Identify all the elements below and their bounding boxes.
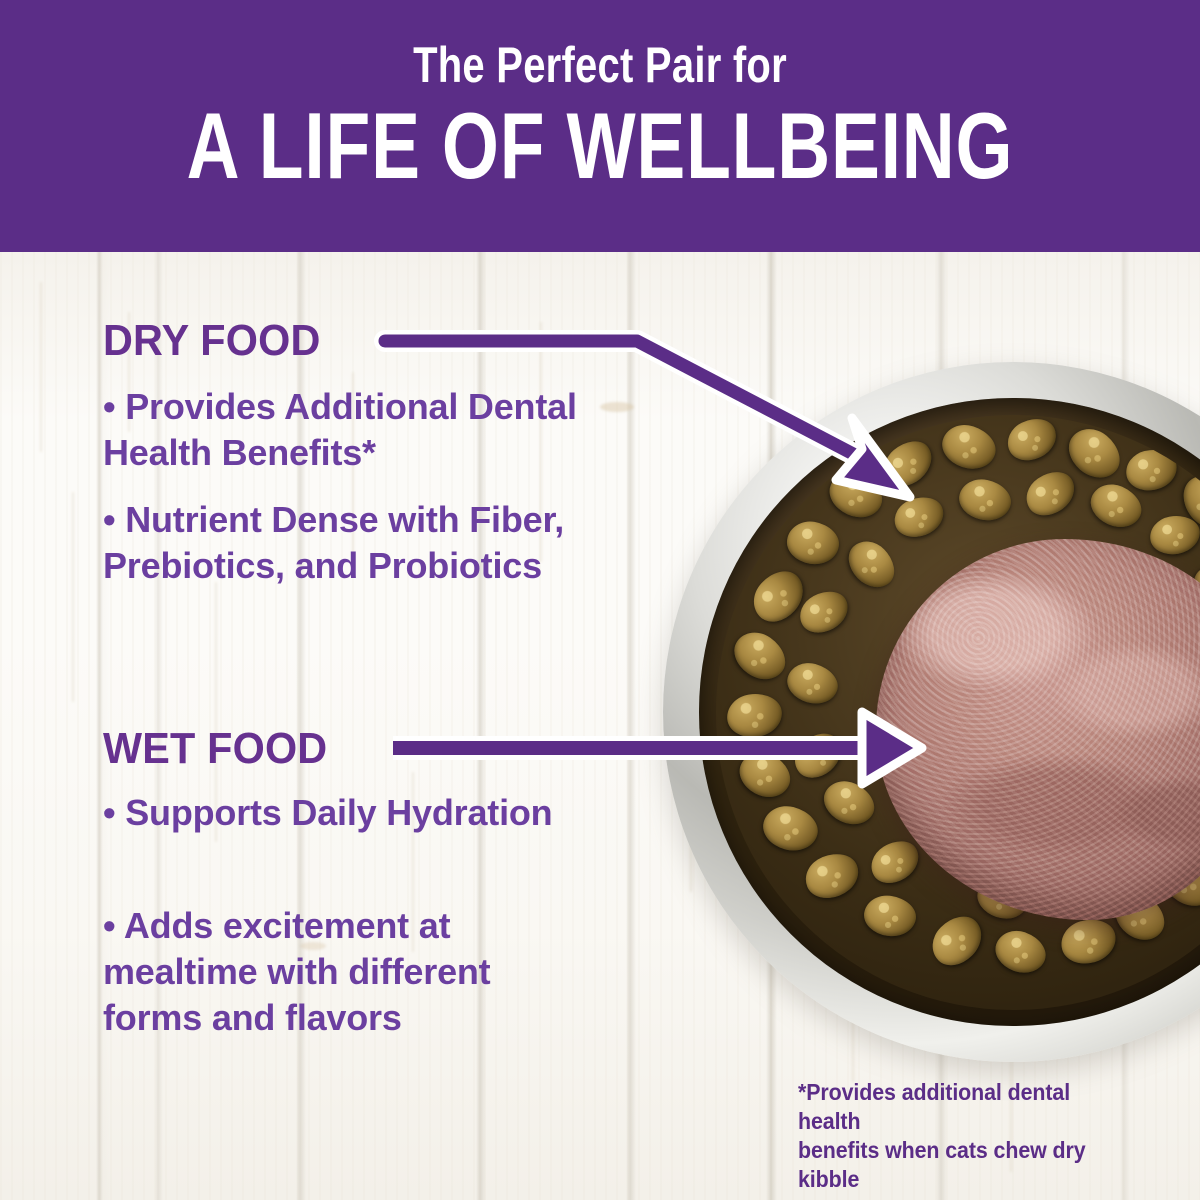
header-banner: The Perfect Pair for A LIFE OF WELLBEING — [0, 0, 1200, 252]
bullet-wet-1: • Supports Daily Hydration — [103, 790, 573, 836]
bullet-marker: • — [103, 499, 115, 540]
bullet-text: Provides Additional Dental Health Benefi… — [103, 386, 577, 473]
bullet-marker: • — [103, 386, 115, 427]
bullet-text: Adds excitement at mealtime with differe… — [103, 905, 490, 1038]
bullet-marker: • — [103, 905, 115, 946]
pet-food-bowl-photo — [663, 362, 1200, 1062]
bullet-dry-1: • Provides Additional Dental Health Bene… — [103, 384, 643, 476]
section-heading-dry-food: DRY FOOD — [103, 316, 321, 366]
footnote: *Provides additional dental health benef… — [798, 1078, 1133, 1194]
header-kicker: The Perfect Pair for — [120, 36, 1080, 94]
bullet-text: Nutrient Dense with Fiber, Prebiotics, a… — [103, 499, 564, 586]
bullet-text: Supports Daily Hydration — [125, 792, 552, 833]
bullet-wet-2: • Adds excitement at mealtime with diffe… — [103, 903, 553, 1041]
wet-food-pate — [876, 539, 1200, 920]
bullet-marker: • — [103, 792, 115, 833]
page-title: A LIFE OF WELLBEING — [132, 96, 1068, 196]
infographic-canvas: The Perfect Pair for A LIFE OF WELLBEING… — [0, 0, 1200, 1200]
section-heading-wet-food: WET FOOD — [103, 724, 327, 774]
bullet-dry-2: • Nutrient Dense with Fiber, Prebiotics,… — [103, 497, 643, 589]
